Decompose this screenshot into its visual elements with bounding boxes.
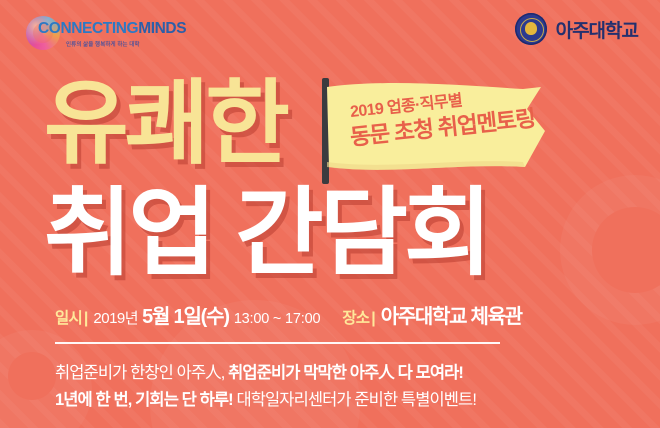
decorative-circle-right xyxy=(560,175,660,325)
event-info-line: 일시 | 2019년 5월 1일(수) 13:00 ~ 17:00 장소 | 아… xyxy=(55,300,522,329)
poster-title-line-2: 취업 간담회 xyxy=(44,186,488,282)
promo-copy-line-1: 취업준비가 한창인 아주人, 취업준비가 막막한 아주人 다 모여라! xyxy=(55,359,463,383)
event-date: 5월 1일(수) xyxy=(142,300,229,329)
connecting-minds-logo: CONNECTINGMINDS 인류의 삶을 행복하게 하는 대학 xyxy=(26,14,166,52)
ajou-university-name: 아주대학교 xyxy=(556,16,638,43)
event-time: 13:00 ~ 17:00 xyxy=(234,311,321,327)
ribbon-banner: 2019 업종·직무별 동문 초청 취업멘토링 xyxy=(322,78,572,186)
event-year: 2019년 xyxy=(93,307,138,328)
horizontal-divider xyxy=(55,342,500,344)
promo-copy-line-2: 1년에 한 번, 기회는 단 하루! 대학일자리센터가 준비한 특별이벤트! xyxy=(55,386,476,410)
wordmark-connecting: CONNECTING xyxy=(38,20,138,37)
event-poster: CONNECTINGMINDS 인류의 삶을 행복하게 하는 대학 아주대학교 … xyxy=(0,0,660,428)
poster-title-line-1: 유쾌한 xyxy=(44,78,286,170)
promo-copy-2-part-2: 대학일자리센터가 준비한 특별이벤트! xyxy=(236,391,476,409)
place-separator: | xyxy=(371,310,375,328)
decorative-circle-right-inner xyxy=(592,207,660,293)
date-separator: | xyxy=(84,310,88,328)
promo-copy-2-part-1: 1년에 한 번, 기회는 단 하루! xyxy=(55,391,236,409)
promo-copy-1-part-1: 취업준비가 한창인 아주人, xyxy=(55,364,228,382)
place-label: 장소 xyxy=(342,306,369,328)
promo-copy-1-part-2: 취업준비가 막막한 아주人 다 모여라! xyxy=(228,364,463,382)
connecting-minds-subtitle: 인류의 삶을 행복하게 하는 대학 xyxy=(66,40,140,48)
decorative-circle-bottom-left-inner xyxy=(8,352,56,400)
date-label: 일시 xyxy=(55,306,82,328)
wordmark-minds: MINDS xyxy=(138,20,186,37)
connecting-minds-wordmark: CONNECTINGMINDS xyxy=(38,20,186,38)
event-place: 아주대학교 체육관 xyxy=(381,300,522,329)
ajou-university-emblem-icon xyxy=(515,13,547,45)
ajou-university-logo: 아주대학교 xyxy=(515,13,638,45)
